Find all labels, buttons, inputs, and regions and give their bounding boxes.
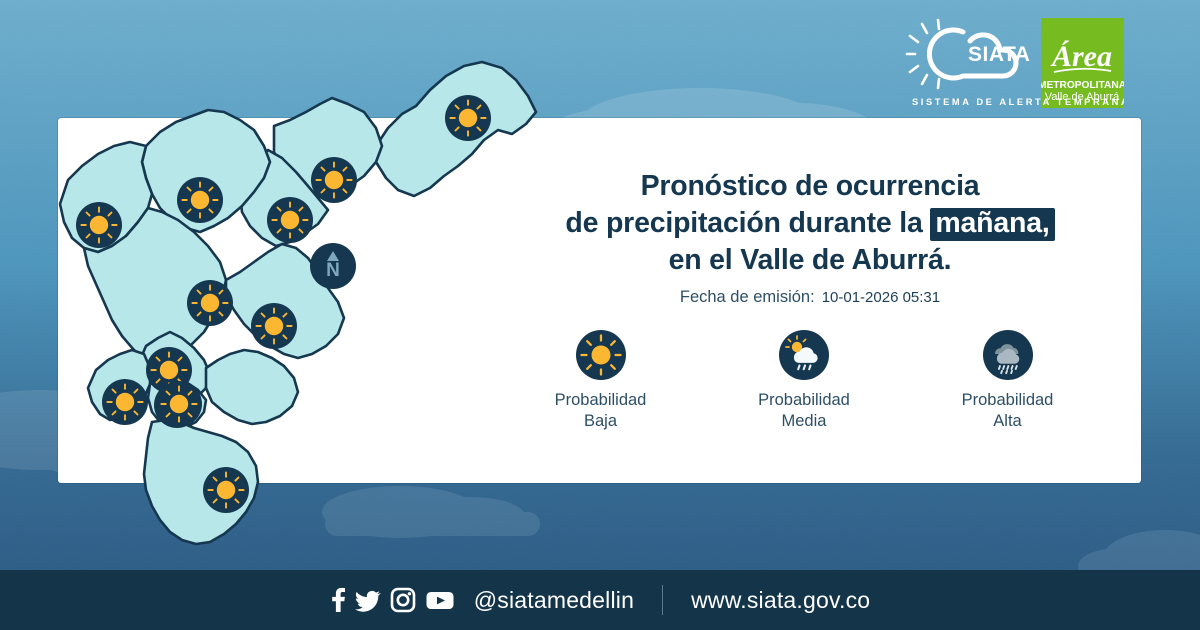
- page-title: Pronóstico de ocurrencia de precipitació…: [505, 168, 1115, 279]
- headline-line-3: en el Valle de Aburrá.: [505, 242, 1115, 279]
- website-url[interactable]: www.siata.gov.co: [691, 587, 870, 614]
- siata-logo: SIATA: [905, 18, 1033, 90]
- probability-legend: Probabilidad Baja Probabilidad Media: [505, 330, 1115, 433]
- siata-wordmark: SIATA: [968, 43, 1030, 66]
- headline-highlight: mañana,: [930, 208, 1054, 241]
- area-line-1: METROPOLITANA: [1041, 80, 1124, 91]
- siata-tagline-wrap: SISTEMA DE ALERTA TEMPRANA: [912, 93, 1124, 114]
- youtube-icon[interactable]: [425, 587, 455, 613]
- headline-line-2: de precipitación durante la mañana,: [505, 205, 1115, 242]
- emission-date: Fecha de emisión:10-01-2026 05:31: [505, 288, 1115, 307]
- footer-bar: @siatamedellin www.siata.gov.co: [0, 570, 1200, 630]
- social-handle[interactable]: @siatamedellin: [474, 587, 634, 614]
- emission-label: Fecha de emisión:: [680, 288, 815, 306]
- legend-item-alta: Probabilidad Alta: [920, 330, 1095, 433]
- legend-label-alta: Probabilidad Alta: [920, 390, 1095, 433]
- legend-label-media: Probabilidad Media: [717, 390, 892, 433]
- sun-icon: [576, 330, 626, 380]
- cloud-heavy-rain-icon: [983, 330, 1033, 380]
- siata-tagline: SISTEMA DE ALERTA TEMPRANA: [912, 97, 1124, 107]
- legend-item-baja: Probabilidad Baja: [513, 330, 688, 433]
- legend-item-media: Probabilidad Media: [717, 330, 892, 433]
- headline-line-2-text: de precipitación durante la: [565, 207, 930, 239]
- emission-value: 10-01-2026 05:31: [822, 289, 940, 306]
- instagram-icon[interactable]: [390, 587, 416, 613]
- twitter-icon[interactable]: [355, 587, 381, 613]
- facebook-icon[interactable]: [330, 587, 346, 613]
- headline-line-1: Pronóstico de ocurrencia: [505, 168, 1115, 205]
- footer-divider: [662, 585, 663, 615]
- sun-cloud-rain-icon: [779, 330, 829, 380]
- social-icons: [330, 587, 455, 613]
- legend-label-baja: Probabilidad Baja: [513, 390, 688, 433]
